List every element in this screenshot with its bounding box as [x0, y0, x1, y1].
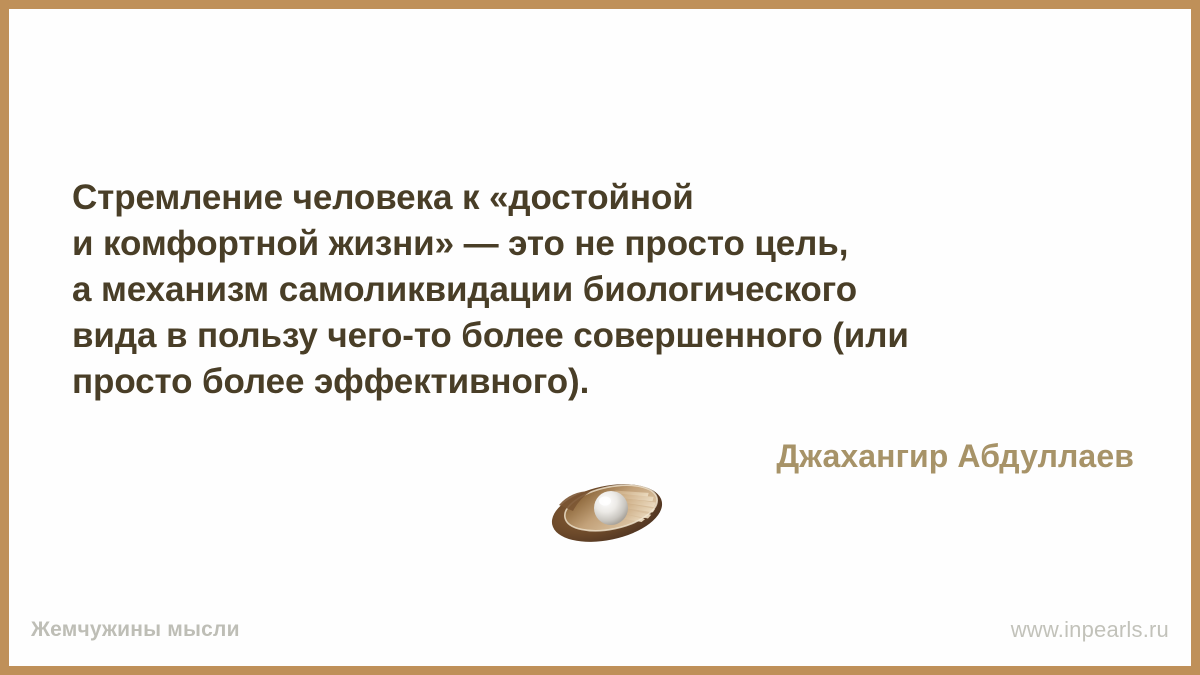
site-name: Жемчужины мысли — [31, 616, 240, 644]
author-row: Джахангир Абдуллаев — [9, 437, 1134, 475]
author-name: Джахангир Абдуллаев — [776, 437, 1134, 475]
footer: Жемчужины мысли www.inpearls.ru — [9, 616, 1191, 644]
oyster-shell-with-pearl-icon — [543, 475, 675, 543]
quote-text: Стремление человека к «достойной и комфо… — [72, 175, 1147, 405]
site-url[interactable]: www.inpearls.ru — [1011, 616, 1169, 644]
quote-block: Стремление человека к «достойной и комфо… — [72, 175, 1147, 405]
quote-card: Стремление человека к «достойной и комфо… — [0, 0, 1200, 675]
